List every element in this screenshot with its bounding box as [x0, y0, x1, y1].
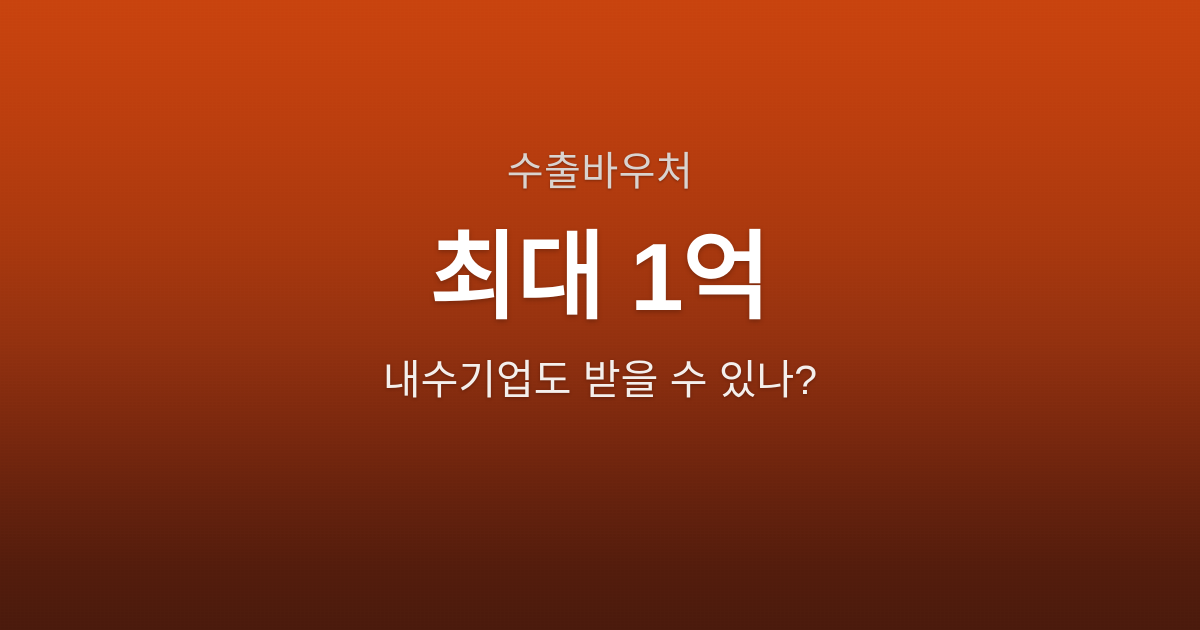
subtitle-question: 내수기업도 받을 수 있나?: [383, 360, 817, 401]
headline-title: 최대 1억: [430, 230, 770, 326]
promo-card: 수출바우처 최대 1억 내수기업도 받을 수 있나?: [0, 0, 1200, 630]
card-content: 수출바우처 최대 1억 내수기업도 받을 수 있나?: [0, 0, 1200, 630]
eyebrow-label: 수출바우처: [507, 152, 694, 192]
